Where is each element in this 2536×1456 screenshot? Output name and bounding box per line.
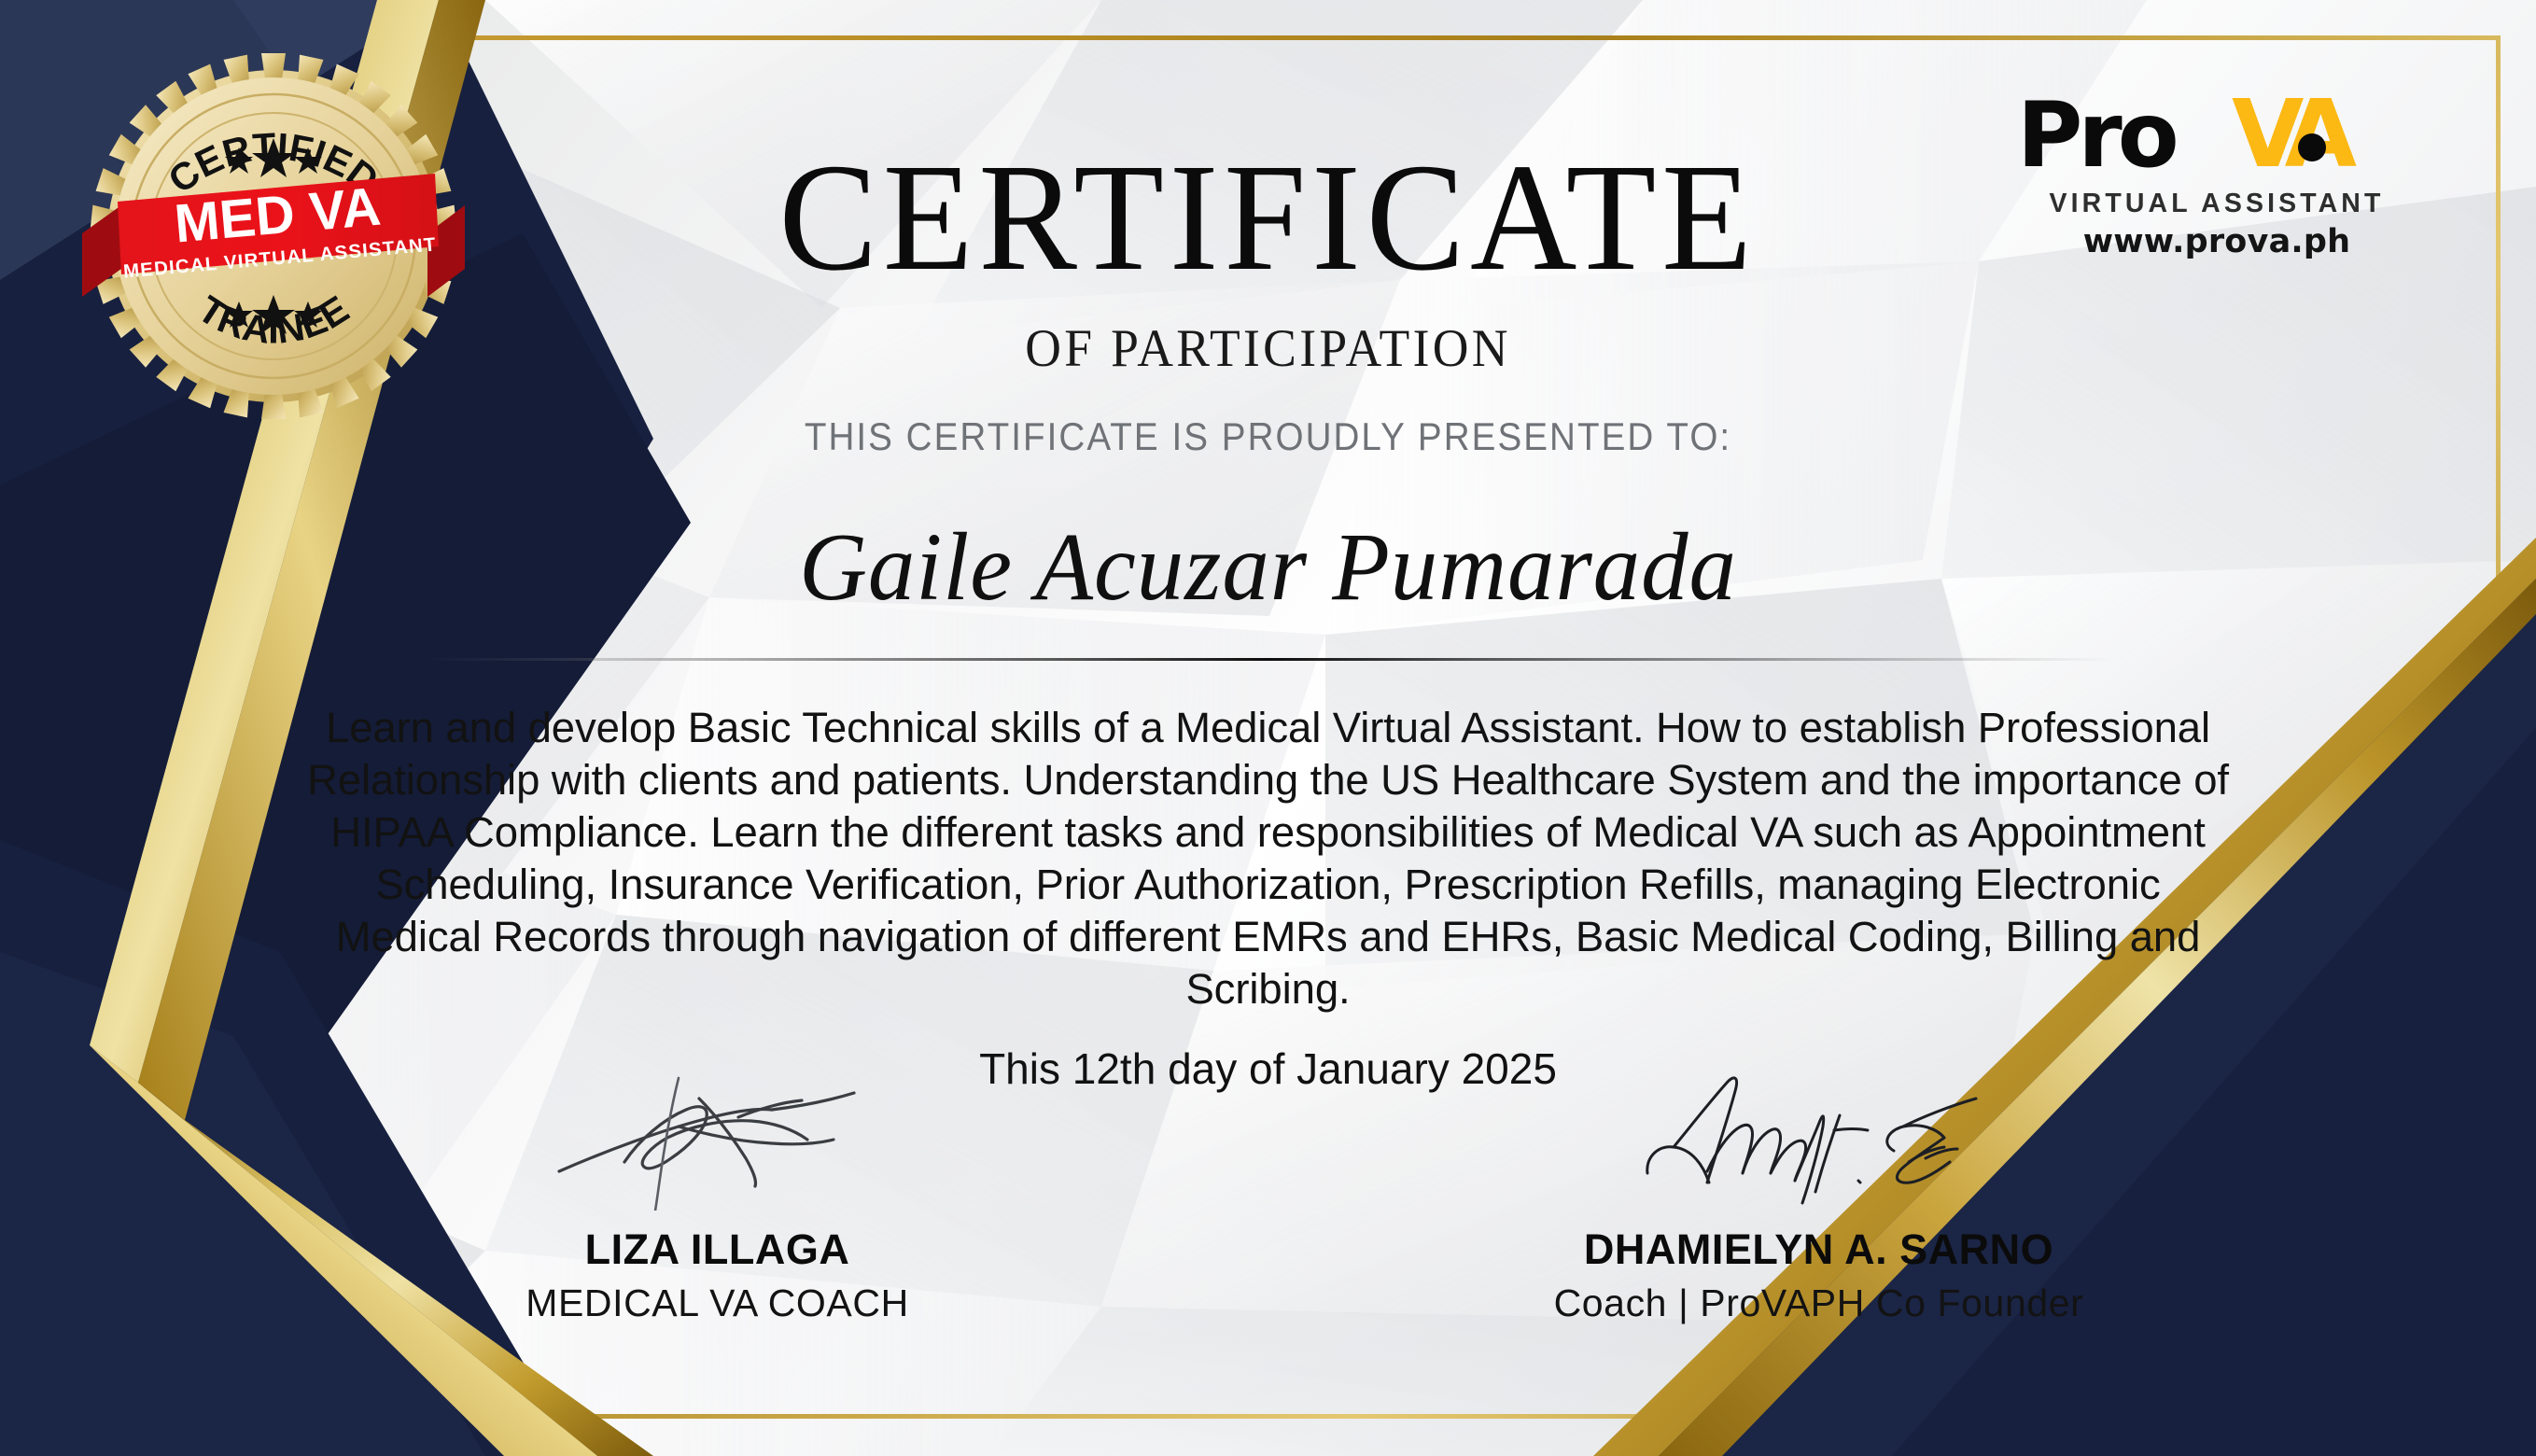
certificate-date: This 12th day of January 2025 <box>0 1043 2536 1094</box>
signature-name: DHAMIELYN A. SARNO <box>1530 1225 2109 1274</box>
logo-website: www.prova.ph <box>2011 223 2422 260</box>
signature-role: MEDICAL VA COACH <box>428 1281 1007 1325</box>
signature-name: LIZA ILLAGA <box>428 1225 1007 1274</box>
logo-va-text: VA <box>2232 90 2357 187</box>
name-divider <box>424 658 2113 661</box>
recipient-name: Gaile Acuzar Pumarada <box>38 511 2498 623</box>
prova-logo: Pro VA VIRTUAL ASSISTANT www.prova.ph <box>2011 90 2422 260</box>
logo-pro-text: Pro <box>2017 90 2176 187</box>
certified-seal-badge: CERTIFIED TRAINEE <box>73 35 474 437</box>
certificate-page: CERTIFIED TRAINEE <box>0 0 2536 1456</box>
signature-row: LIZA ILLAGA MEDICAL VA COACH <box>0 1171 2536 1325</box>
logo-tagline: VIRTUAL ASSISTANT <box>2011 189 2422 219</box>
prova-logo-wordmark: Pro VA <box>2011 90 2422 187</box>
logo-dot-icon <box>2298 133 2326 161</box>
signature-block-left: LIZA ILLAGA MEDICAL VA COACH <box>428 1171 1007 1325</box>
certificate-body-text: Learn and develop Basic Technical skills… <box>307 702 2230 1015</box>
signature-role: Coach | ProVAPH Co Founder <box>1530 1281 2109 1325</box>
signature-block-right: DHAMIELYN A. SARNO Coach | ProVAPH Co Fo… <box>1530 1171 2109 1325</box>
